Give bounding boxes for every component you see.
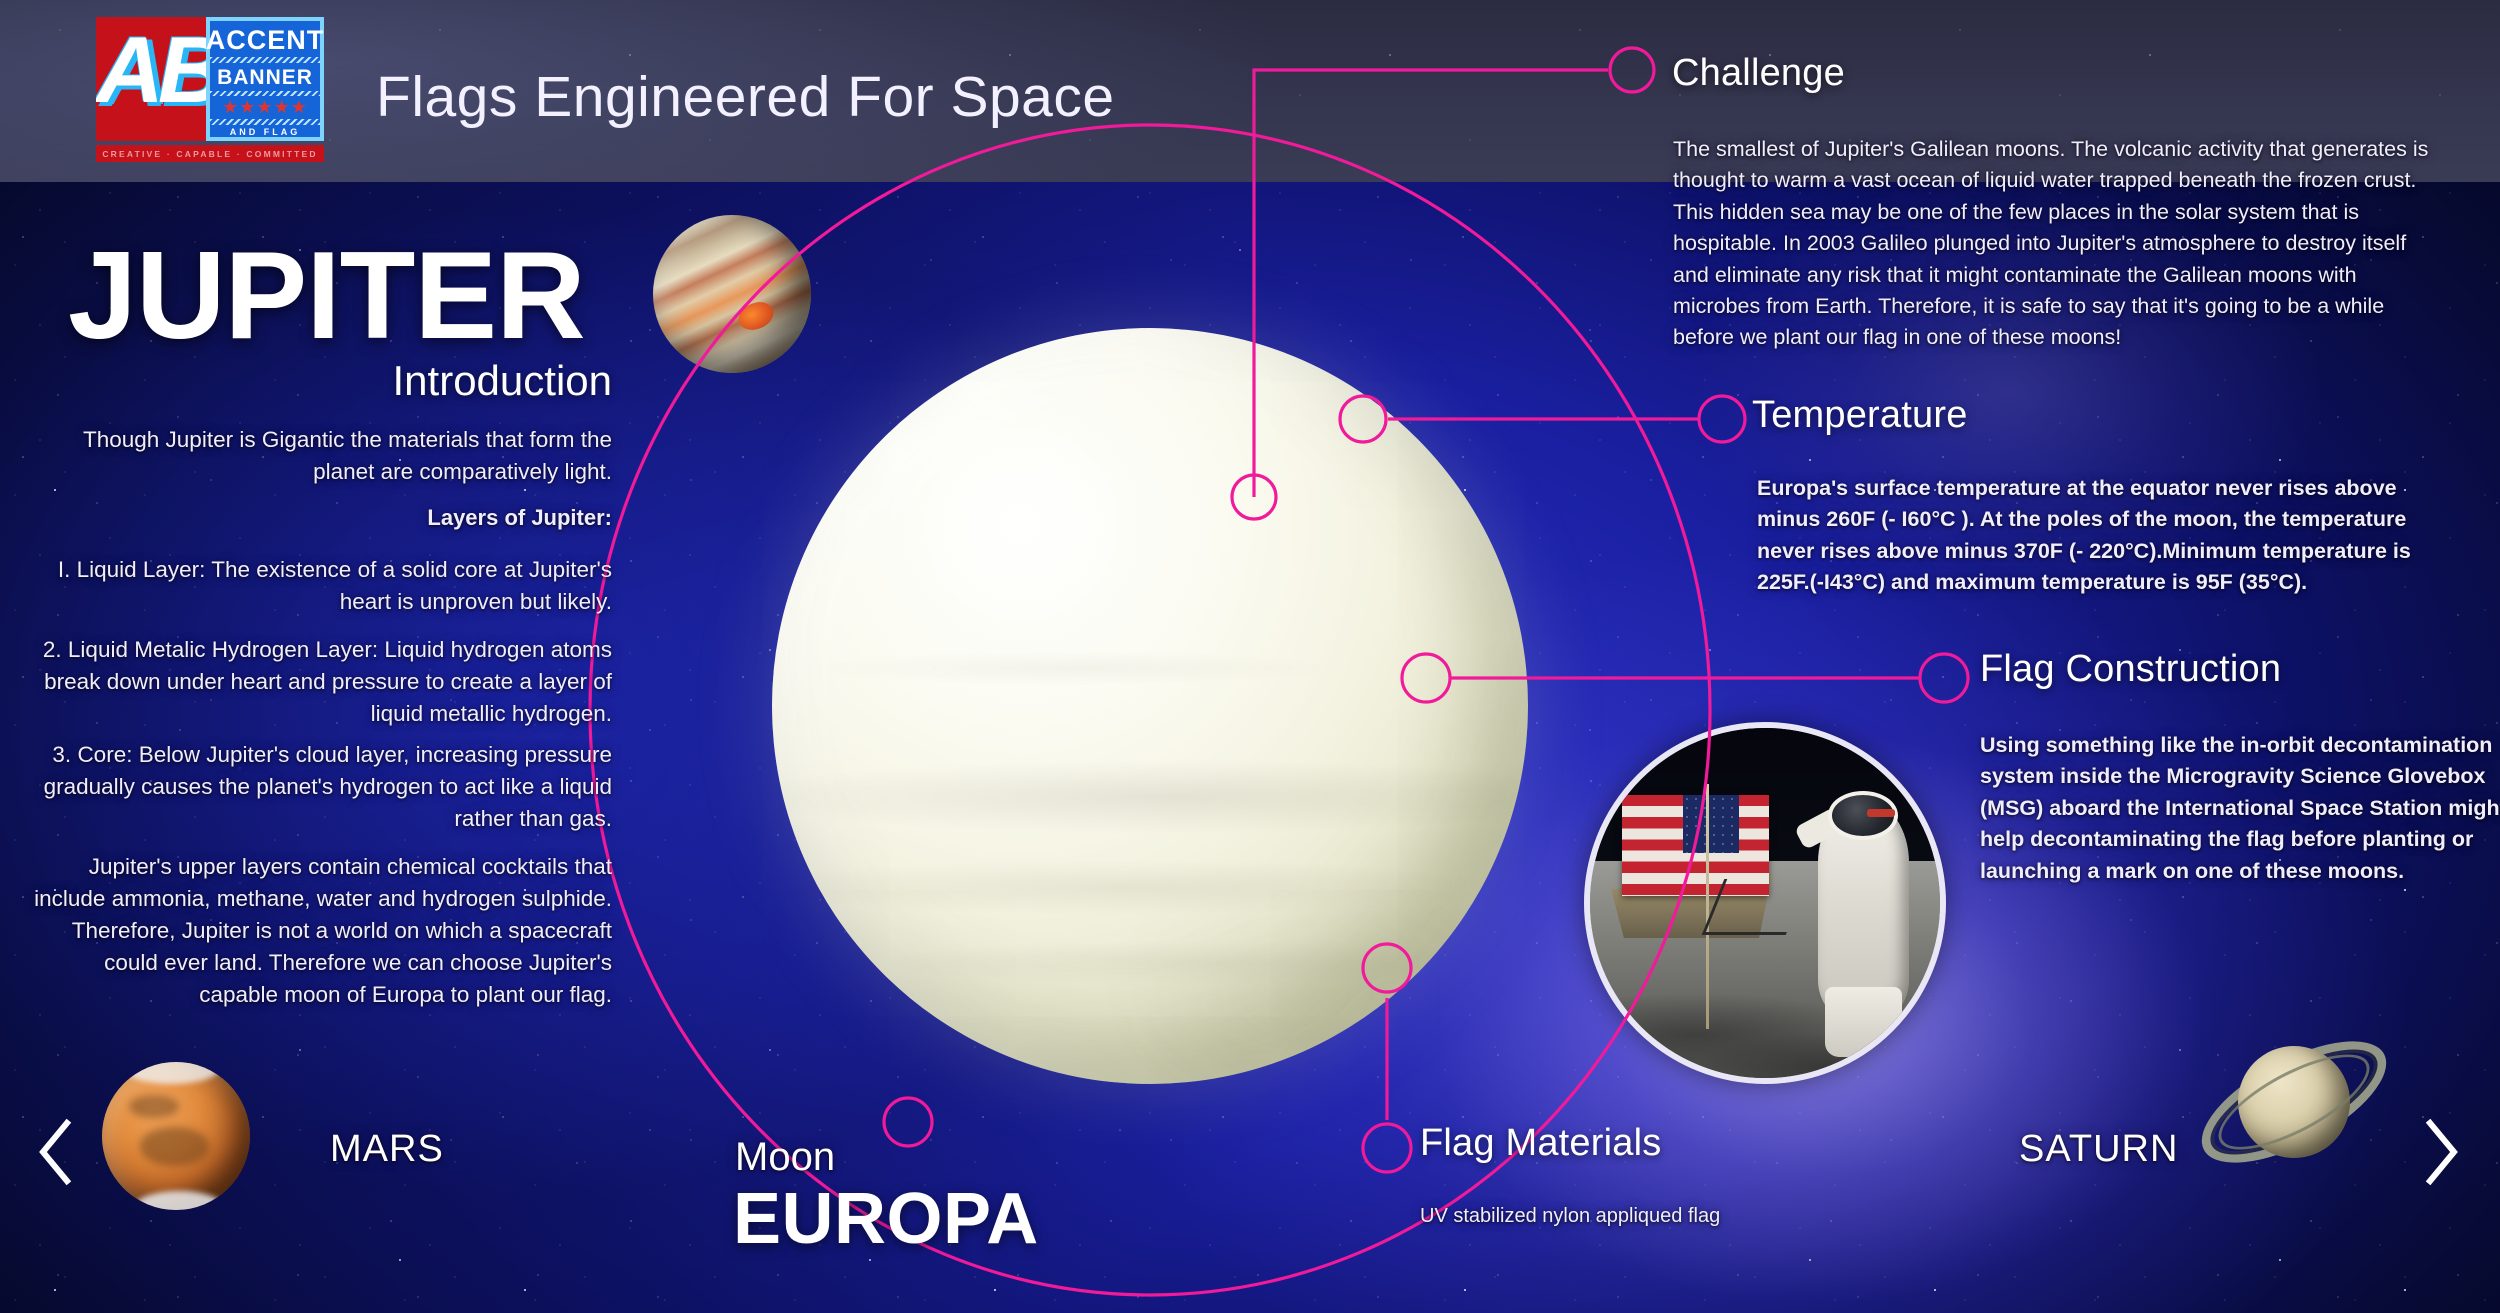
temperature-body-text: Europa's surface temperature at the equa… xyxy=(1757,473,2457,599)
flag-materials-heading: Flag Materials xyxy=(1420,1122,1661,1165)
moon-name-heading: EUROPA xyxy=(733,1178,1039,1260)
europa-moon-image xyxy=(772,328,1528,1084)
logo-tagline: CREATIVE · CAPABLE · COMMITTED xyxy=(96,145,324,162)
logo-zigzag-2 xyxy=(210,91,320,97)
nav-prev-label[interactable]: MARS xyxy=(330,1128,444,1171)
logo-word-andflag: AND FLAG xyxy=(230,128,301,137)
logo-wordmark-block: ACCENT BANNER ★★★★★ AND FLAG xyxy=(206,17,324,141)
mars-surface-marking-2 xyxy=(129,1095,179,1119)
logo-stars: ★★★★★ xyxy=(222,98,308,116)
flagmaterials-node-bullet xyxy=(1363,1124,1411,1172)
logo-word-accent: ACCENT xyxy=(206,27,325,54)
logo-zigzag-3 xyxy=(210,119,320,125)
flag-pole xyxy=(1706,784,1709,1029)
logo-zigzag-1 xyxy=(210,57,320,63)
astronaut-flag-photo xyxy=(1584,722,1946,1084)
mars-south-cap xyxy=(135,1191,224,1210)
orbit-node-lower-left xyxy=(884,1098,932,1146)
logo-top-row: AB ACCENT BANNER ★★★★★ AND FLAG xyxy=(96,17,324,141)
great-red-spot xyxy=(735,298,778,336)
introduction-heading: Introduction xyxy=(0,357,612,405)
mars-planet-thumbnail[interactable] xyxy=(102,1062,250,1210)
astronaut-legs xyxy=(1825,987,1902,1057)
challenge-heading: Challenge xyxy=(1672,52,1845,95)
chevron-right-icon[interactable] xyxy=(2418,1117,2464,1187)
chevron-left-icon[interactable] xyxy=(33,1117,79,1187)
page-title: Flags Engineered For Space xyxy=(376,64,1115,130)
introduction-closing-text: Jupiter's upper layers contain chemical … xyxy=(30,851,612,1011)
layer-item-1: I. Liquid Layer: The existence of a soli… xyxy=(30,554,612,618)
mars-north-cap xyxy=(123,1062,221,1084)
moon-label: Moon xyxy=(735,1135,835,1180)
jupiter-planet-image xyxy=(653,215,811,373)
flag-construction-body-text: Using something like the in-orbit decont… xyxy=(1980,730,2500,887)
nav-next-label[interactable]: SATURN xyxy=(2019,1128,2178,1171)
layer-item-3: 3. Core: Below Jupiter's cloud layer, in… xyxy=(30,739,612,835)
accent-banner-logo[interactable]: AB ACCENT BANNER ★★★★★ AND FLAG CREATIVE… xyxy=(96,17,324,162)
layer-item-2: 2. Liquid Metalic Hydrogen Layer: Liquid… xyxy=(30,634,612,730)
logo-monogram-block: AB xyxy=(96,17,206,141)
logo-monogram-text: AB xyxy=(96,17,206,129)
flag-materials-body-text: UV stabilized nylon appliqued flag xyxy=(1420,1205,1720,1228)
challenge-body-text: The smallest of Jupiter's Galilean moons… xyxy=(1673,134,2443,354)
mars-surface-marking-1 xyxy=(140,1127,208,1165)
temperature-heading: Temperature xyxy=(1752,394,1968,437)
layers-subheading: Layers of Jupiter: xyxy=(0,505,612,531)
introduction-lead-text: Though Jupiter is Gigantic the materials… xyxy=(30,424,612,488)
infographic-stage: AB ACCENT BANNER ★★★★★ AND FLAG CREATIVE… xyxy=(0,0,2500,1313)
saturn-planet-thumbnail[interactable] xyxy=(2194,1002,2394,1202)
logo-word-banner: BANNER xyxy=(217,67,313,88)
temperature-node-bullet xyxy=(1699,396,1745,442)
planet-name-heading: JUPITER xyxy=(68,225,585,367)
flagconstruction-node-bullet xyxy=(1920,654,1968,702)
flag-construction-heading: Flag Construction xyxy=(1980,648,2281,691)
suit-red-band xyxy=(1867,809,1895,818)
europa-surface-streaks xyxy=(772,328,1528,1084)
flag-canton xyxy=(1683,795,1739,854)
